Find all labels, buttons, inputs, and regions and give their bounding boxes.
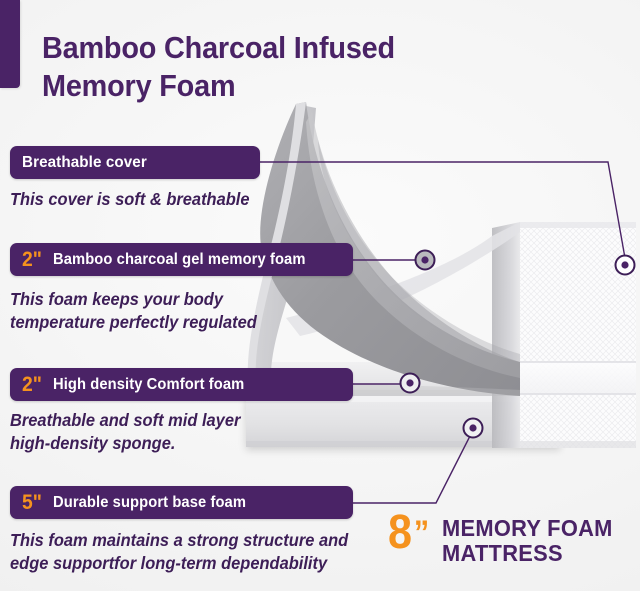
description-line: This foam keeps your body [10,288,257,311]
mattress-size: 8” [388,512,429,554]
page-title-line-2: Memory Foam [42,67,479,105]
layer-badge-bamboo-charcoal-gel[interactable]: 2" Bamboo charcoal gel memory foam [10,243,353,276]
layer-thickness: 2" [22,249,42,270]
description-line: This cover is soft & breathable [10,188,250,211]
description-line: Breathable and soft mid layer [10,409,240,432]
description-line: This foam maintains a strong structure a… [10,529,348,552]
description-line: edge supportfor long-term dependability [10,552,348,575]
layer-description-durable-support-base: This foam maintains a strong structure a… [10,529,348,575]
layer-label: Bamboo charcoal gel memory foam [53,252,306,268]
layer-description-high-density-comfort: Breathable and soft mid layer high-densi… [10,409,240,455]
layer-badge-breathable-cover[interactable]: Breathable cover [10,146,260,179]
layer-thickness: 2" [22,374,42,395]
layer-label: High density Comfort foam [53,377,244,393]
layer-description-bamboo-charcoal-gel: This foam keeps your body temperature pe… [10,288,257,334]
description-line: high-density sponge. [10,432,240,455]
title-accent-bar [0,0,20,88]
product-summary: 8” MEMORY FOAM MATTRESS [388,512,621,566]
product-name: MEMORY FOAM MATTRESS [442,512,613,566]
layer-badge-high-density-comfort[interactable]: 2" High density Comfort foam [10,368,353,401]
layer-description-breathable-cover: This cover is soft & breathable [10,188,250,211]
description-line: temperature perfectly regulated [10,311,257,334]
mattress-size-unit: ” [414,514,429,552]
product-name-line-1: MEMORY FOAM [442,516,613,541]
page-title: Bamboo Charcoal Infused Memory Foam [42,29,479,105]
page-title-line-1: Bamboo Charcoal Infused [42,29,479,67]
layer-label: Breathable cover [22,155,147,171]
mattress-infographic: Bamboo Charcoal Infused Memory Foam Brea… [0,0,640,591]
layer-thickness: 5" [22,492,42,513]
mattress-size-number: 8 [388,506,412,559]
layer-label: Durable support base foam [53,495,246,511]
product-name-line-2: MATTRESS [442,541,613,566]
layer-badge-durable-support-base[interactable]: 5" Durable support base foam [10,486,353,519]
